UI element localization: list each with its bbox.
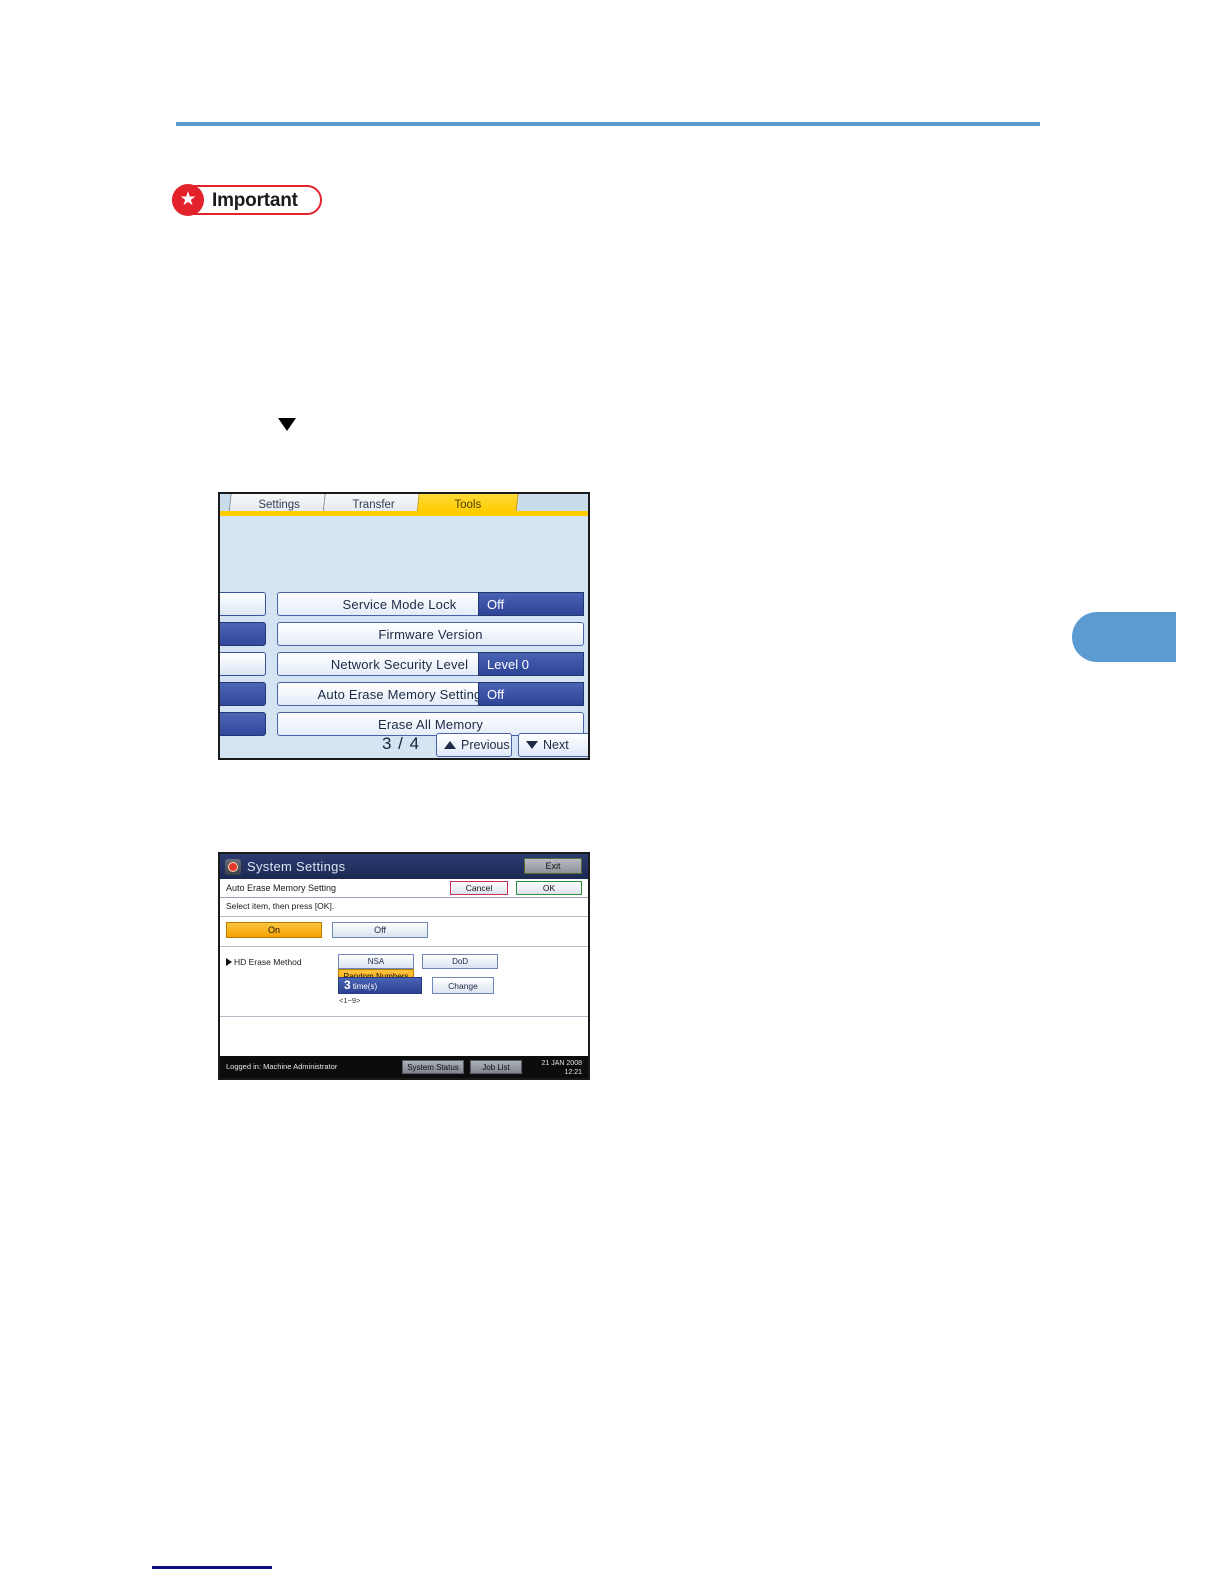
divider — [220, 916, 588, 917]
erase-count-unit: time(s) — [353, 982, 377, 991]
page-counter: 3 / 4 — [382, 734, 420, 754]
tab-settings[interactable]: Settings — [229, 492, 332, 512]
tab-tools-label: Tools — [454, 499, 481, 511]
list-item: Network Security Level Level 0 — [220, 652, 588, 676]
tools-settings-list: Service Mode Lock Off Firmware Version N… — [220, 592, 588, 742]
divider — [220, 1016, 588, 1017]
tab-underline-bar — [220, 511, 588, 516]
next-page-button[interactable]: Next — [518, 733, 590, 757]
next-label: Next — [543, 738, 569, 752]
hd-erase-method-text: HD Erase Method — [234, 957, 302, 967]
triangle-up-icon — [444, 741, 456, 749]
hd-erase-method-label: HD Erase Method — [226, 957, 302, 967]
sidebar-stub[interactable] — [218, 652, 266, 676]
instruction-text: Select item, then press [OK]. — [226, 901, 334, 911]
dialog-statusbar: Logged in: Machine Administrator System … — [220, 1056, 588, 1078]
star-icon: ★ — [172, 184, 204, 216]
clock: 21 JAN 2008 12:21 — [542, 1059, 582, 1077]
sidebar-stub[interactable] — [218, 682, 266, 706]
tab-transfer[interactable]: Transfer — [323, 492, 426, 512]
star-glyph: ★ — [179, 190, 196, 209]
setting-button-firmware-version[interactable]: Firmware Version — [277, 622, 584, 646]
icon-dot — [228, 862, 238, 872]
system-settings-icon — [225, 859, 241, 875]
ok-button[interactable]: OK — [516, 881, 582, 895]
system-status-button[interactable]: System Status — [402, 1060, 464, 1074]
dialog-subtitle: Auto Erase Memory Setting — [226, 883, 336, 893]
off-button[interactable]: Off — [332, 922, 428, 938]
erase-count-number: 3 — [344, 978, 351, 992]
setting-value-network-security-level: Level 0 — [478, 652, 584, 676]
erase-method-dod-button[interactable]: DoD — [422, 954, 498, 969]
exit-button[interactable]: Exit — [524, 858, 582, 874]
cancel-button[interactable]: Cancel — [450, 881, 508, 895]
login-status-text: Logged in: Machine Administrator — [226, 1062, 337, 1071]
erase-count-value: 3 time(s) — [338, 977, 422, 994]
sidebar-stub[interactable] — [218, 592, 266, 616]
on-button[interactable]: On — [226, 922, 322, 938]
tab-settings-label: Settings — [259, 499, 301, 511]
setting-value-auto-erase-memory-setting: Off — [478, 682, 584, 706]
figure-tools-list-panel: Service Mode Lock Off Firmware Version N… — [218, 492, 590, 760]
tab-tools[interactable]: Tools — [417, 492, 520, 512]
side-thumb-index-tab — [1072, 612, 1176, 662]
clock-date: 21 JAN 2008 — [542, 1060, 582, 1067]
important-label: Important — [212, 191, 298, 210]
figure-system-settings-dialog: System Settings Exit Auto Erase Memory S… — [218, 852, 590, 1080]
erase-method-nsa-button[interactable]: NSA — [338, 954, 414, 969]
tools-panel-footer: 3 / 4 Previous Next — [220, 732, 588, 758]
page-header-rule — [176, 122, 1040, 126]
page-title: System Settings — [247, 859, 345, 874]
change-button[interactable]: Change — [432, 977, 494, 994]
sidebar-stub[interactable] — [218, 622, 266, 646]
list-item: Auto Erase Memory Setting Off — [220, 682, 588, 706]
divider — [220, 946, 588, 947]
previous-page-button[interactable]: Previous — [436, 733, 512, 757]
tab-transfer-label: Transfer — [352, 499, 394, 511]
setting-value-service-mode-lock: Off — [478, 592, 584, 616]
tools-panel-body: Service Mode Lock Off Firmware Version N… — [220, 516, 588, 758]
previous-label: Previous — [461, 738, 510, 752]
triangle-right-icon — [226, 958, 232, 966]
dialog-titlebar: System Settings Exit — [220, 854, 588, 879]
down-triangle-icon — [278, 418, 296, 431]
list-item: Firmware Version — [220, 622, 588, 646]
job-list-button[interactable]: Job List — [470, 1060, 522, 1074]
erase-count-range: <1~9> — [339, 996, 360, 1005]
page-footer-rule — [152, 1566, 272, 1569]
dialog-subbar: Auto Erase Memory Setting Cancel OK — [220, 879, 588, 898]
triangle-down-icon — [526, 741, 538, 749]
on-off-toggle-group: On Off — [226, 922, 428, 938]
clock-time: 12:21 — [564, 1069, 582, 1076]
list-item: Service Mode Lock Off — [220, 592, 588, 616]
